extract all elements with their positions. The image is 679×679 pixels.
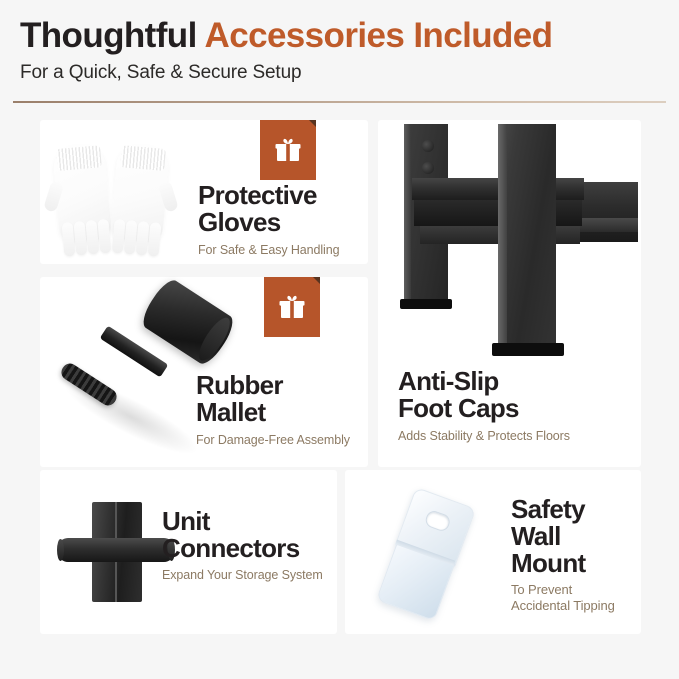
wall-mount-title-line-1: Safety [511, 496, 615, 523]
gift-badge-gloves [260, 120, 316, 180]
mallet-subtitle: For Damage-Free Assembly [196, 433, 350, 448]
foot-caps-subtitle: Adds Stability & Protects Floors [398, 429, 570, 444]
foot-caps-title: Anti-Slip Foot Caps [398, 368, 570, 422]
wall-mount-text-block: Safety Wall Mount To Prevent Accidental … [511, 496, 615, 614]
foot-caps-title-line-2: Foot Caps [398, 395, 570, 422]
wall-mount-subtitle-line-1: To Prevent [511, 582, 615, 598]
mallet-title-line-2: Mallet [196, 399, 350, 426]
connectors-title: Unit Connectors [162, 508, 323, 562]
wall-mount-title-line-3: Mount [511, 550, 615, 577]
connectors-title-line-2: Connectors [162, 535, 323, 562]
gift-badge-mallet [264, 277, 320, 337]
connectors-title-line-1: Unit [162, 508, 323, 535]
gloves-title: Protective Gloves [198, 182, 339, 236]
connectors-text-block: Unit Connectors Expand Your Storage Syst… [162, 508, 323, 583]
mallet-text-block: Rubber Mallet For Damage-Free Assembly [196, 372, 350, 448]
mallet-title: Rubber Mallet [196, 372, 350, 426]
connectors-subtitle: Expand Your Storage System [162, 568, 323, 583]
gloves-subtitle: For Safe & Easy Handling [198, 243, 339, 258]
gift-icon [276, 291, 308, 323]
wall-mount-subtitle: To Prevent Accidental Tipping [511, 582, 615, 614]
gift-icon [272, 134, 304, 166]
foot-caps-text-block: Anti-Slip Foot Caps Adds Stability & Pro… [398, 368, 570, 444]
mallet-title-line-1: Rubber [196, 372, 350, 399]
gloves-title-line-2: Gloves [198, 209, 339, 236]
feature-card-grid: Protective Gloves For Safe & Easy Handli… [0, 0, 679, 679]
gloves-title-line-1: Protective [198, 182, 339, 209]
wall-mount-title: Safety Wall Mount [511, 496, 615, 576]
foot-caps-title-line-1: Anti-Slip [398, 368, 570, 395]
wall-mount-title-line-2: Wall [511, 523, 615, 550]
gloves-text-block: Protective Gloves For Safe & Easy Handli… [198, 182, 339, 258]
wall-mount-subtitle-line-2: Accidental Tipping [511, 598, 615, 614]
